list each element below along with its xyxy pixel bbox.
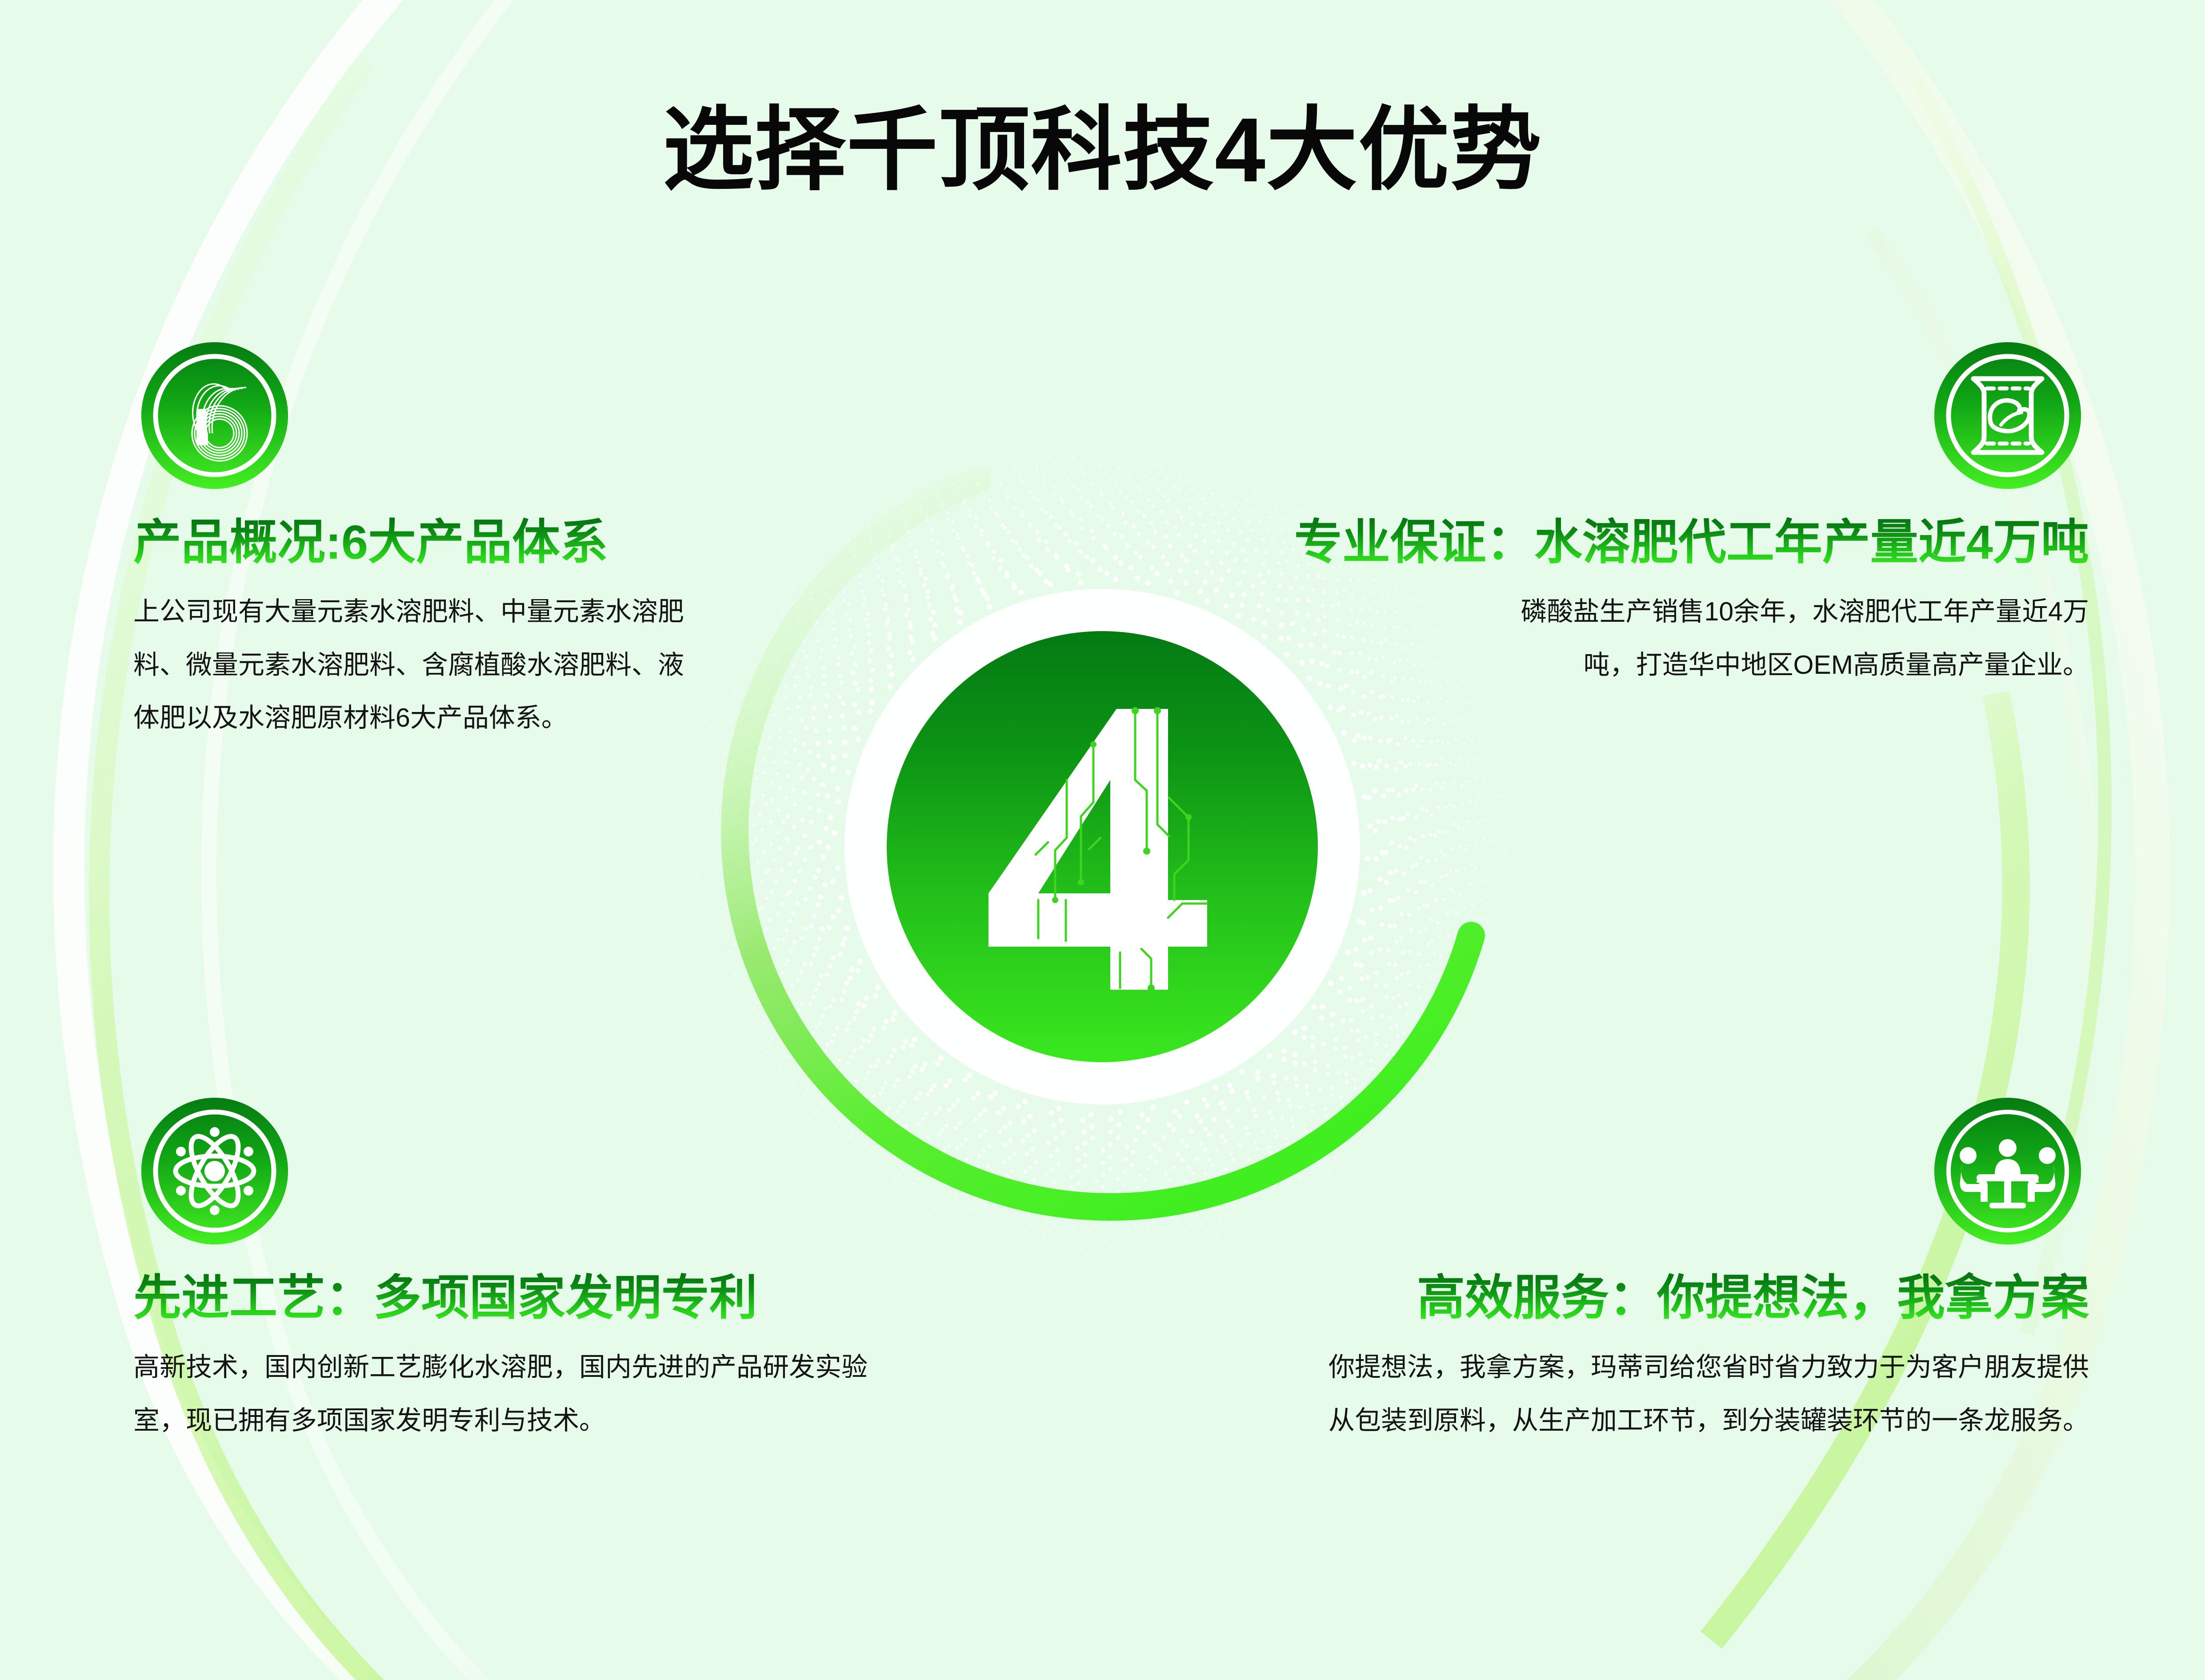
feature-body: 高新技术，国内创新工艺膨化水溶肥，国内先进的产品研发实验室，现已拥有多项国家发明… <box>133 1341 880 1447</box>
feature-block-bottom-right: 高效服务：你提想法，我拿方案 你提想法，我拿方案，玛蒂司给您省时省力致力于为客户… <box>1298 1098 2089 1447</box>
feature-body: 你提想法，我拿方案，玛蒂司给您省时省力致力于为客户朋友提供从包装到原料，从生产加… <box>1320 1341 2089 1447</box>
atom-icon <box>141 1098 288 1244</box>
feature-block-top-left: 产品概况:6大产品体系 上公司现有大量元素水溶肥料、中量元素水溶肥料、微量元素水… <box>133 342 720 744</box>
number-six-badge-icon <box>141 342 288 489</box>
feature-heading: 专业保证：水溶肥代工年产量近4万吨 <box>1173 514 2089 570</box>
feature-block-top-right: 专业保证：水溶肥代工年产量近4万吨 磷酸盐生产销售10余年，水溶肥代工年产量近4… <box>1173 342 2089 692</box>
number-four-tech-glyph <box>960 691 1245 1002</box>
feature-heading: 先进工艺：多项国家发明专利 <box>133 1269 911 1326</box>
feature-heading: 高效服务：你提想法，我拿方案 <box>1298 1269 2089 1326</box>
meeting-people-icon <box>1934 1098 2081 1244</box>
page-title: 选择千顶科技4大优势 <box>0 100 2205 200</box>
feature-heading: 产品概况:6大产品体系 <box>133 514 720 570</box>
feature-body: 磷酸盐生产销售10余年，水溶肥代工年产量近4万吨，打造华中地区OEM高质量高产量… <box>1491 585 2089 691</box>
feature-body: 上公司现有大量元素水溶肥料、中量元素水溶肥料、微量元素水溶肥料、含腐植酸水溶肥料… <box>133 585 689 744</box>
feature-block-bottom-left: 先进工艺：多项国家发明专利 高新技术，国内创新工艺膨化水溶肥，国内先进的产品研发… <box>133 1098 911 1447</box>
fertilizer-bag-icon <box>1934 342 2081 489</box>
poster-canvas: 选择千顶科技4大优势 <box>0 0 2205 1680</box>
center-number-circle <box>887 631 1318 1062</box>
